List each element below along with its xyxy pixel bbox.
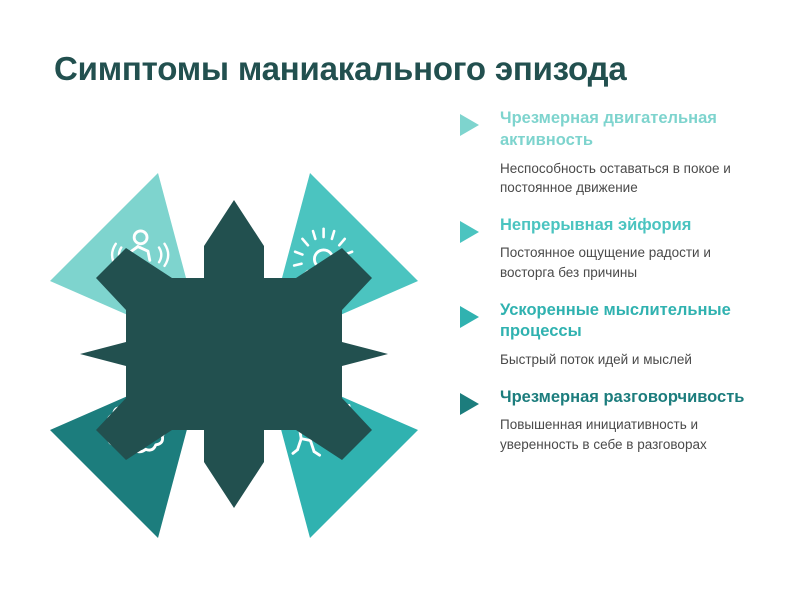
symptom-heading: Ускоренные мыслительные процессы bbox=[500, 300, 760, 344]
triangle-bullet-icon bbox=[460, 221, 479, 243]
symptom-description: Быстрый поток идей и мыслей bbox=[500, 350, 760, 370]
symptom-item-2: Непрерывная эйфория Постоянное ощущение … bbox=[460, 215, 760, 283]
symptom-list: Чрезмерная двигательная активность Неспо… bbox=[460, 108, 760, 455]
infographic-root: Симптомы маниакального эпизода bbox=[0, 0, 792, 610]
page-title: Симптомы маниакального эпизода bbox=[54, 50, 754, 88]
triangle-bullet-icon bbox=[460, 393, 479, 415]
symptom-heading: Чрезмерная разговорчивость bbox=[500, 387, 760, 409]
symptom-description: Неспособность оставаться в покое и посто… bbox=[500, 159, 760, 198]
symptom-item-1: Чрезмерная двигательная активность Неспо… bbox=[460, 108, 760, 198]
triangle-bullet-icon bbox=[460, 114, 479, 136]
symptom-heading: Непрерывная эйфория bbox=[500, 215, 760, 237]
triangle-bullet-icon bbox=[460, 306, 479, 328]
symptom-description: Повышенная инициативность и уверенность … bbox=[500, 415, 760, 454]
symptom-heading: Чрезмерная двигательная активность bbox=[500, 108, 760, 152]
symptom-description: Постоянное ощущение радости и восторга б… bbox=[500, 243, 760, 282]
symptom-item-3: Ускоренные мыслительные процессы Быстрый… bbox=[460, 300, 760, 370]
central-graphic bbox=[48, 168, 420, 540]
symptom-item-4: Чрезмерная разговорчивость Повышенная ин… bbox=[460, 387, 760, 455]
